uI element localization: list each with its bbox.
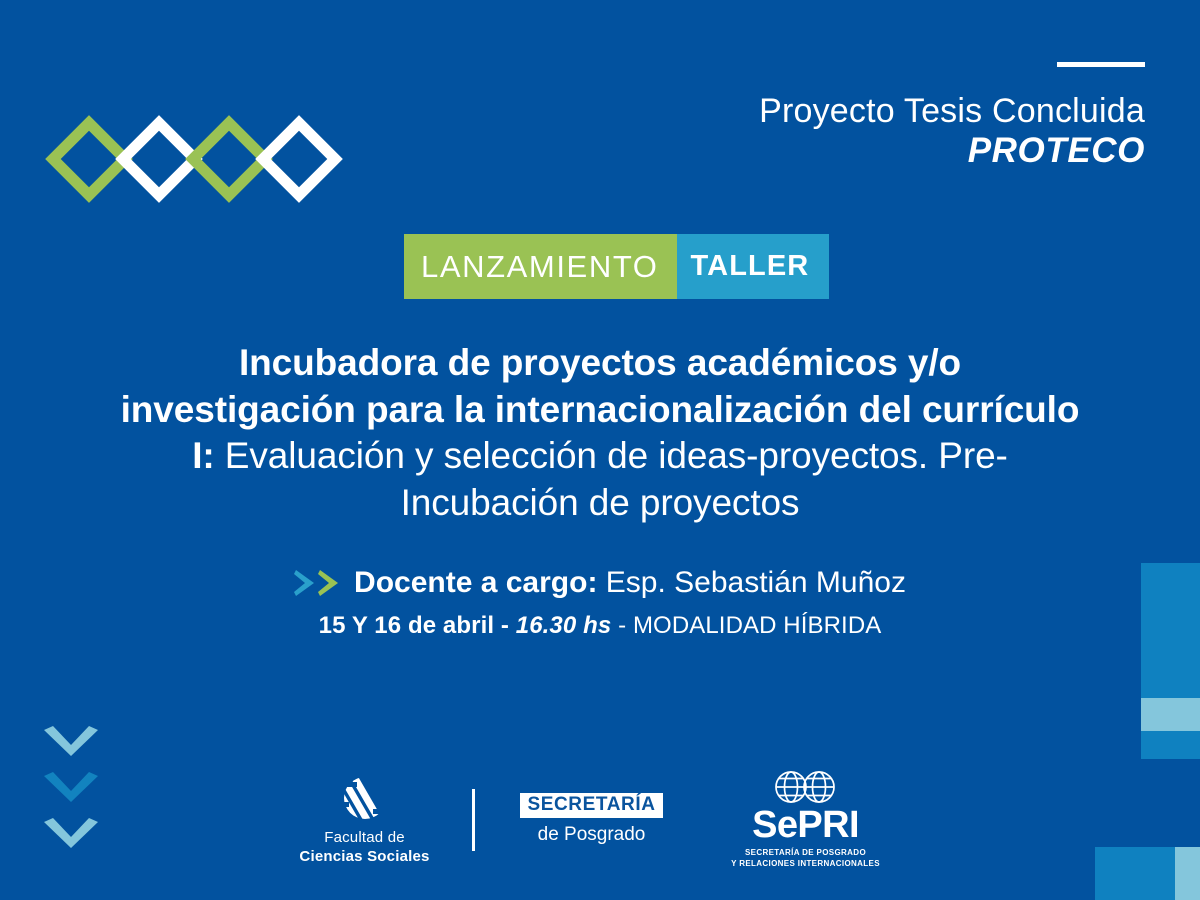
poster-canvas: Proyecto Tesis Concluida PROTECO LANZAMI… (0, 0, 1200, 900)
sepri-name: SePRI (752, 806, 859, 844)
badge-label-taller: TALLER (677, 234, 830, 299)
header-rule (1057, 62, 1145, 67)
logo-faculty: Facultad de Ciencias Sociales (290, 774, 440, 865)
footer-divider (472, 789, 475, 851)
chevron-right-icon-green (318, 570, 340, 596)
logo-secretariat: SECRETARÍA de Posgrado (507, 793, 677, 846)
program-header: Proyecto Tesis Concluida PROTECO (759, 62, 1145, 172)
secretariat-box-label: SECRETARÍA (520, 793, 662, 818)
double-globe-icon (767, 770, 845, 804)
presenter-row: Docente a cargo: Esp. Sebastián Muñoz (0, 566, 1200, 600)
diamond-decoration-row (58, 128, 330, 190)
fcs-circular-mark-icon (341, 774, 389, 822)
presenter-name: Esp. Sebastián Muñoz (606, 566, 906, 599)
sepri-subtitle-line-2: Y RELACIONES INTERNACIONALES (731, 859, 880, 870)
schedule-time: 16.30 hs (516, 612, 612, 639)
faculty-line-2: Ciencias Sociales (299, 848, 429, 865)
chevron-down-icon-1 (44, 726, 98, 756)
chevron-right-pair (294, 570, 340, 596)
footer-logos: Facultad de Ciencias Sociales SECRETARÍA… (0, 770, 1200, 870)
chevron-right-icon-teal (294, 570, 316, 596)
presenter-block: Docente a cargo: Esp. Sebastián Muñoz 15… (0, 566, 1200, 640)
schedule-dates: 15 Y 16 de abril - (319, 612, 509, 639)
logo-sepri: SePRI SECRETARÍA DE POSGRADO Y RELACIONE… (701, 770, 911, 870)
program-title: Proyecto Tesis Concluida (759, 93, 1145, 130)
secretariat-sub-label: de Posgrado (538, 824, 646, 846)
schedule-line: 15 Y 16 de abril - 16.30 hs - MODALIDAD … (0, 612, 1200, 640)
event-title-regular: Evaluación y selección de ideas-proyecto… (225, 435, 1008, 523)
event-type-badge: LANZAMIENTO TALLER (404, 234, 829, 299)
program-acronym: PROTECO (759, 130, 1145, 173)
faculty-line-1: Facultad de (324, 829, 405, 846)
presenter-role-label: Docente a cargo: (354, 566, 597, 599)
sepri-subtitle-line-1: SECRETARÍA DE POSGRADO (731, 848, 880, 859)
diamond-icon-white-2 (255, 115, 343, 203)
sepri-subtitle: SECRETARÍA DE POSGRADO Y RELACIONES INTE… (731, 848, 880, 870)
badge-label-lanzamiento: LANZAMIENTO (404, 234, 677, 299)
event-title: Incubadora de proyectos académicos y/o i… (0, 340, 1200, 526)
schedule-modality: - MODALIDAD HÍBRIDA (618, 612, 881, 639)
presenter-line: Docente a cargo: Esp. Sebastián Muñoz (354, 566, 906, 600)
edge-block-light-stripe (1141, 698, 1200, 731)
